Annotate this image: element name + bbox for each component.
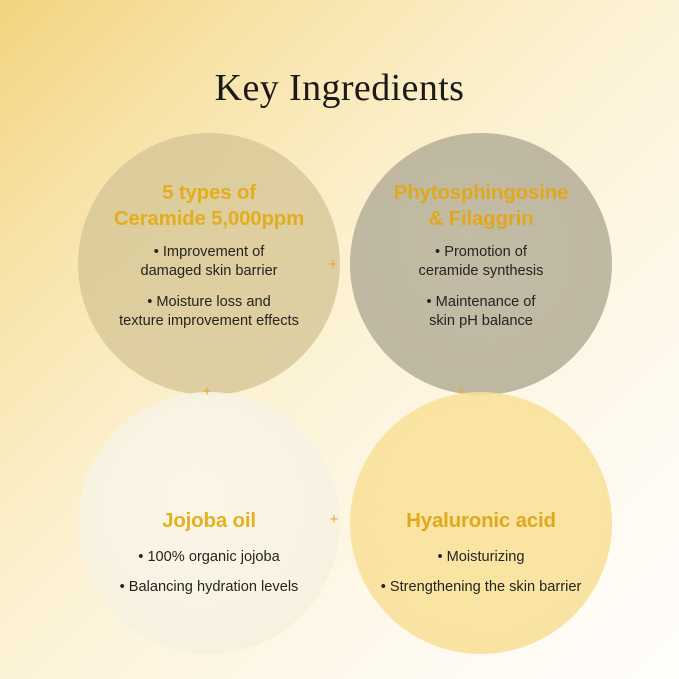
list-item: • Maintenance of skin pH balance	[350, 293, 612, 332]
plus-icon-right: +	[454, 384, 468, 398]
ingredient-content-phytosphingosine: Phytosphingosine & Filaggrin • Promotion…	[350, 180, 612, 331]
ingredient-content-hyaluronic-acid: Hyaluronic acid • Moisturizing • Strengt…	[350, 508, 612, 597]
ingredient-bullets-ceramide: • Improvement of damaged skin barrier • …	[78, 243, 340, 332]
ingredient-heading-hyaluronic-acid: Hyaluronic acid	[350, 508, 612, 533]
list-item: • Moisture loss and texture improvement …	[78, 293, 340, 332]
plus-icon-left: +	[200, 385, 214, 399]
ingredient-bullets-jojoba-oil: • 100% organic jojoba • Balancing hydrat…	[78, 548, 340, 598]
list-item: • Improvement of damaged skin barrier	[78, 243, 340, 282]
page-title: Key Ingredients	[0, 68, 679, 110]
ingredient-circle-jojoba-oil: Jojoba oil • 100% organic jojoba • Balan…	[78, 392, 340, 654]
ingredient-bullets-phytosphingosine: • Promotion of ceramide synthesis • Main…	[350, 243, 612, 332]
list-item: • 100% organic jojoba	[78, 548, 340, 567]
ingredient-circle-phytosphingosine: Phytosphingosine & Filaggrin • Promotion…	[350, 133, 612, 395]
list-item: • Promotion of ceramide synthesis	[350, 243, 612, 282]
list-item: • Balancing hydration levels	[78, 578, 340, 597]
list-item: • Moisturizing	[350, 548, 612, 567]
ingredient-bullets-hyaluronic-acid: • Moisturizing • Strengthening the skin …	[350, 548, 612, 598]
key-ingredients-infographic: Key Ingredients 5 types of Ceramide 5,00…	[0, 0, 679, 679]
plus-icon-top: +	[326, 258, 340, 272]
ingredient-content-jojoba-oil: Jojoba oil • 100% organic jojoba • Balan…	[78, 508, 340, 597]
ingredient-heading-ceramide: 5 types of Ceramide 5,000ppm	[78, 180, 340, 230]
plus-icon-bottom: +	[327, 513, 341, 527]
ingredient-heading-phytosphingosine: Phytosphingosine & Filaggrin	[350, 180, 612, 230]
ingredient-circle-hyaluronic-acid: Hyaluronic acid • Moisturizing • Strengt…	[350, 392, 612, 654]
ingredient-circle-ceramide: 5 types of Ceramide 5,000ppm • Improveme…	[78, 133, 340, 395]
list-item: • Strengthening the skin barrier	[350, 578, 612, 597]
ingredient-content-ceramide: 5 types of Ceramide 5,000ppm • Improveme…	[78, 180, 340, 331]
ingredient-heading-jojoba-oil: Jojoba oil	[78, 508, 340, 533]
